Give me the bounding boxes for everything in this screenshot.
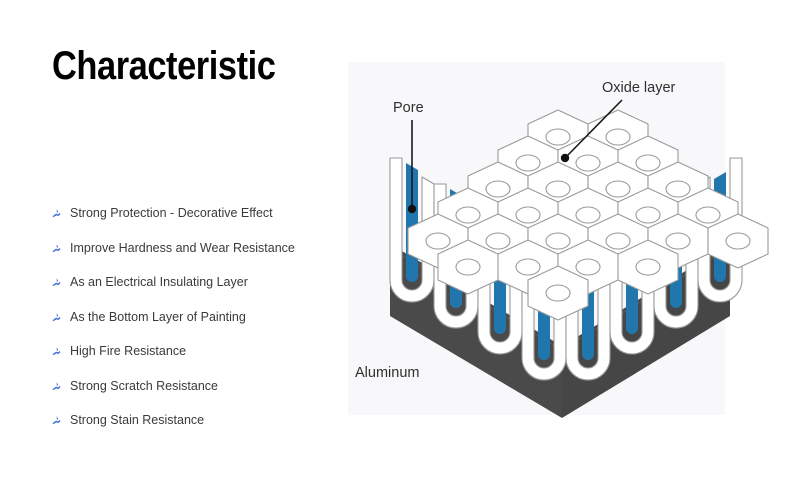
list-item: As an Electrical Insulating Layer [50, 275, 335, 291]
blue-person-mark-icon [50, 276, 64, 290]
oxide-layer-label: Oxide layer [602, 80, 676, 96]
list-item: Strong Stain Resistance [50, 413, 335, 429]
blue-person-mark-icon [50, 345, 64, 359]
list-item-label: Strong Protection - Decorative Effect [70, 206, 273, 221]
list-item-label: Strong Scratch Resistance [70, 379, 218, 394]
pore-label: Pore [393, 100, 424, 116]
blue-person-mark-icon [50, 414, 64, 428]
list-item: Improve Hardness and Wear Resistance [50, 241, 335, 257]
page-title: Characteristic [52, 44, 275, 88]
list-item-label: High Fire Resistance [70, 344, 186, 359]
feature-list: Strong Protection - Decorative Effect Im… [50, 206, 335, 448]
blue-person-mark-icon [50, 207, 64, 221]
list-item-label: Improve Hardness and Wear Resistance [70, 241, 295, 256]
blue-person-mark-icon [50, 242, 64, 256]
blue-person-mark-icon [50, 311, 64, 325]
list-item-label: Strong Stain Resistance [70, 413, 204, 428]
blue-person-mark-icon [50, 380, 64, 394]
anodized-aluminum-diagram: Pore Oxide layer Aluminum [330, 58, 780, 458]
list-item: Strong Protection - Decorative Effect [50, 206, 335, 222]
aluminum-label: Aluminum [355, 365, 419, 381]
list-item: High Fire Resistance [50, 344, 335, 360]
list-item-label: As the Bottom Layer of Painting [70, 310, 246, 325]
list-item: Strong Scratch Resistance [50, 379, 335, 395]
list-item: As the Bottom Layer of Painting [50, 310, 335, 326]
list-item-label: As an Electrical Insulating Layer [70, 275, 248, 290]
